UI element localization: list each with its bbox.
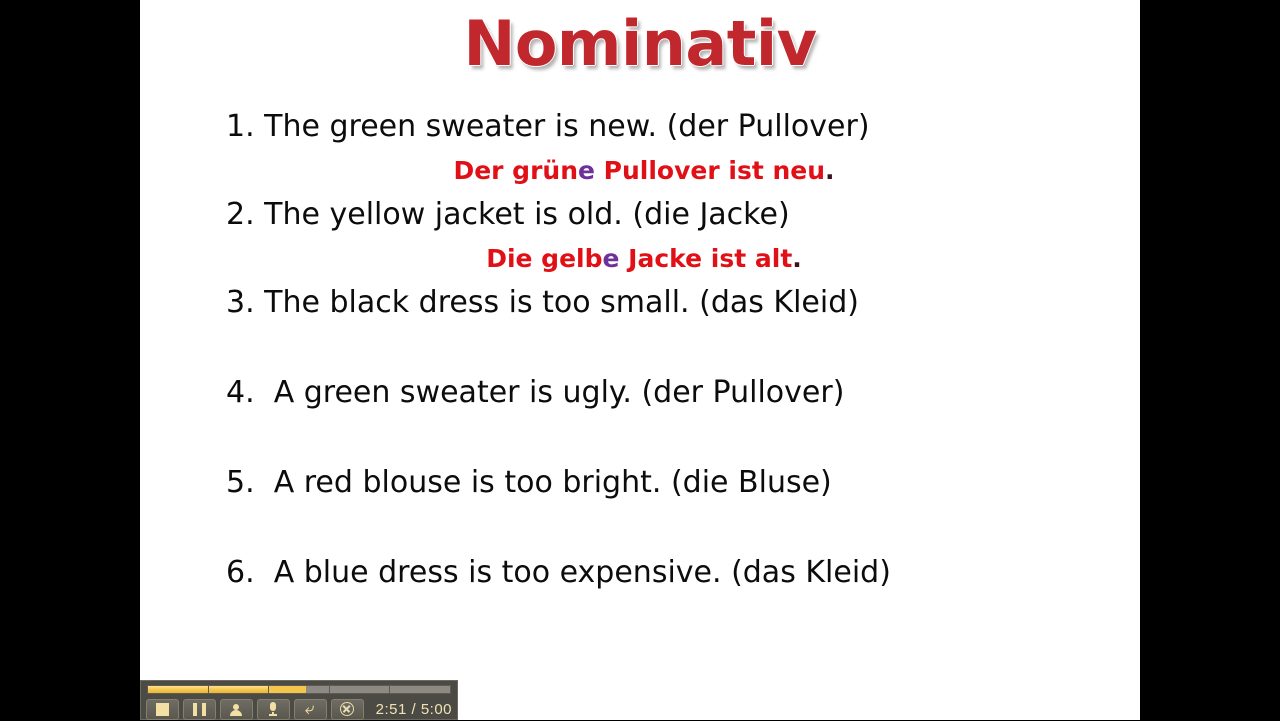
answer-text-before: Die gelb [486,244,602,273]
exercise-list: 1. The green sweater is new. (der Pullov… [226,104,1106,596]
person-icon [229,703,243,716]
progress-bar[interactable] [147,685,451,694]
progress-segment [269,686,330,693]
list-spacer [226,326,1106,370]
stop-button[interactable] [146,699,179,720]
list-item: 3. The black dress is too small. (das Kl… [226,280,1106,326]
answer-line: Der grüne Pullover ist neu. [226,150,1106,192]
list-spacer [226,416,1106,460]
answer-highlight: e [578,156,595,185]
stop-icon [156,703,169,716]
webcam-button[interactable] [220,699,253,720]
answer-text-after: Pullover ist neu [595,156,825,185]
pause-button[interactable] [183,699,216,720]
slide-canvas: Nominativ 1. The green sweater is new. (… [140,0,1140,720]
progress-segment [209,686,270,693]
progress-segment [148,686,209,693]
undo-button[interactable]: ⤷ [294,699,327,720]
list-item: 2. The yellow jacket is old. (die Jacke) [226,192,1106,238]
time-display: 2:51 / 5:00 [376,701,452,718]
list-item: 4. A green sweater is ugly. (der Pullove… [226,370,1106,416]
list-spacer [226,506,1106,550]
answer-line: Die gelbe Jacke ist alt. [226,238,1106,280]
letterbox-left [0,0,140,720]
list-item: 6. A blue dress is too expensive. (das K… [226,550,1106,596]
media-buttons-row: ⤷ 2:51 / 5:00 [145,697,453,721]
list-item: 5. A red blouse is too bright. (die Blus… [226,460,1106,506]
close-circle-icon [340,702,354,716]
progress-segment [330,686,391,693]
answer-highlight: e [603,244,620,273]
answer-text-before: Der grün [453,156,578,185]
cancel-button[interactable] [331,699,364,720]
progress-segment [390,686,450,693]
microphone-icon [267,702,279,716]
page-title: Nominativ [140,8,1140,80]
microphone-button[interactable] [257,699,290,720]
answer-period: . [825,156,835,185]
undo-arrow-icon: ⤷ [305,701,315,718]
screen-root: Nominativ 1. The green sweater is new. (… [0,0,1280,720]
answer-period: . [792,244,802,273]
pause-icon [193,703,206,716]
answer-text-after: Jacke ist alt [619,244,792,273]
media-control-bar[interactable]: ⤷ 2:51 / 5:00 [140,680,458,720]
list-item: 1. The green sweater is new. (der Pullov… [226,104,1106,150]
letterbox-right [1140,0,1280,720]
